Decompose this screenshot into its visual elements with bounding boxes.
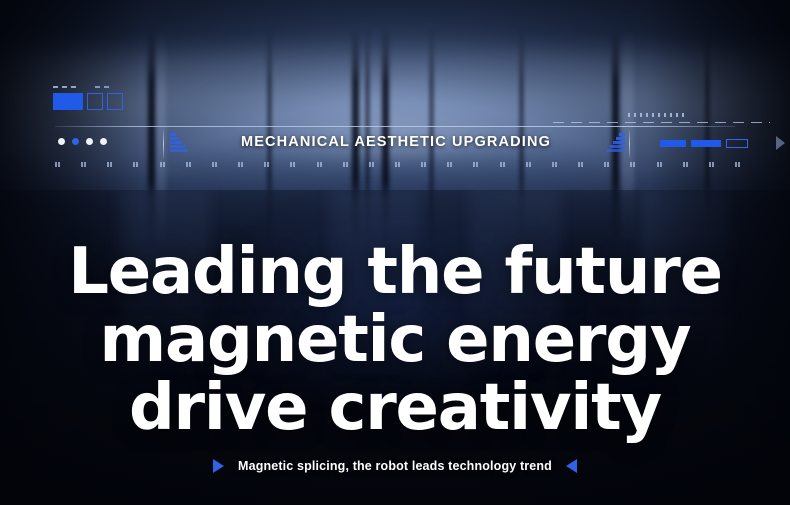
ruler-tick — [398, 162, 400, 167]
ruler-tick — [290, 162, 292, 167]
hud-blocks-widget — [53, 86, 123, 110]
ruler-tick — [735, 162, 737, 167]
hud-bar-filled — [660, 140, 686, 147]
hud-dashed-line — [553, 122, 770, 123]
hud-divider-right — [629, 130, 630, 158]
ruler-tick — [267, 162, 269, 167]
dash-mark — [95, 86, 100, 88]
ruler-tick — [238, 162, 240, 167]
ruler-tick — [346, 162, 348, 167]
stair-bars-icon — [607, 133, 625, 153]
ruler-tick — [633, 162, 635, 167]
hud-title: MECHANICAL AESTHETIC UPGRADING — [163, 134, 629, 150]
ruler-tick — [320, 162, 322, 167]
ruler-tick — [212, 162, 214, 167]
ruler-tick — [186, 162, 188, 167]
ruler-tick — [81, 162, 83, 167]
hud-dot-active — [72, 138, 79, 145]
dash-mark — [104, 86, 109, 88]
title-line: magnetic energy — [0, 306, 790, 374]
ruler-tick — [450, 162, 452, 167]
ruler-tick — [369, 162, 371, 167]
ruler-tick — [343, 162, 345, 167]
ruler-tick — [683, 162, 685, 167]
ruler-tick — [160, 162, 162, 167]
page-title: Leading the future magnetic energy drive… — [0, 238, 790, 442]
ruler-tick — [264, 162, 266, 167]
ruler-tick — [107, 162, 109, 167]
ruler-tick — [526, 162, 528, 167]
ruler-tick — [215, 162, 217, 167]
ruler-tick — [500, 162, 502, 167]
ruler-tick — [686, 162, 688, 167]
title-line: drive creativity — [0, 374, 790, 442]
subtitle-row: Magnetic splicing, the robot leads techn… — [0, 459, 790, 473]
ruler-tick — [552, 162, 554, 167]
hud-block-filled — [53, 93, 83, 110]
ruler-tick — [657, 162, 659, 167]
hud-dot — [100, 138, 107, 145]
ruler-tick — [447, 162, 449, 167]
triangle-right-icon — [213, 459, 224, 473]
hud-mini-ticks — [628, 113, 688, 117]
ruler-tick — [581, 162, 583, 167]
ruler-tick — [84, 162, 86, 167]
ruler-tick — [395, 162, 397, 167]
ruler-tick — [476, 162, 478, 167]
play-triangle-icon[interactable] — [776, 136, 785, 150]
hud-dots-indicator — [58, 138, 107, 145]
subtitle-text: Magnetic splicing, the robot leads techn… — [238, 459, 552, 473]
ruler-tick — [555, 162, 557, 167]
title-line: Leading the future — [0, 238, 790, 306]
hud-horizontal-rule — [55, 126, 735, 127]
ruler-tick — [709, 162, 711, 167]
hud-dot — [58, 138, 65, 145]
hud-right-bars — [660, 139, 748, 148]
ruler-tick — [241, 162, 243, 167]
hud-ruler — [55, 162, 735, 167]
ruler-tick — [110, 162, 112, 167]
ruler-tick — [58, 162, 60, 167]
ruler-tick — [604, 162, 606, 167]
ruler-tick — [738, 162, 740, 167]
ruler-tick — [660, 162, 662, 167]
ruler-tick — [189, 162, 191, 167]
triangle-left-icon — [566, 459, 577, 473]
ruler-tick — [503, 162, 505, 167]
hud-dash-marks — [53, 86, 123, 88]
dash-mark — [71, 86, 76, 88]
hud-block-outline — [87, 93, 103, 110]
ruler-tick — [55, 162, 57, 167]
ruler-tick — [424, 162, 426, 167]
hud-block-outline — [107, 93, 123, 110]
hud-bar-outline — [726, 139, 748, 148]
hud-overlay: MECHANICAL AESTHETIC UPGRADING — [0, 0, 790, 180]
ruler-tick — [163, 162, 165, 167]
ruler-tick — [529, 162, 531, 167]
ruler-tick — [317, 162, 319, 167]
ruler-tick — [607, 162, 609, 167]
ruler-tick — [293, 162, 295, 167]
hud-bar-filled — [691, 140, 721, 147]
hud-dot — [86, 138, 93, 145]
ruler-tick — [630, 162, 632, 167]
ruler-tick — [421, 162, 423, 167]
ruler-tick — [473, 162, 475, 167]
ruler-tick — [372, 162, 374, 167]
ruler-tick — [133, 162, 135, 167]
dash-mark — [53, 86, 58, 88]
ruler-tick — [578, 162, 580, 167]
dash-mark — [62, 86, 67, 88]
hero-banner: MECHANICAL AESTHETIC UPGRADING Leading t… — [0, 0, 790, 505]
ruler-tick — [136, 162, 138, 167]
ruler-tick — [712, 162, 714, 167]
